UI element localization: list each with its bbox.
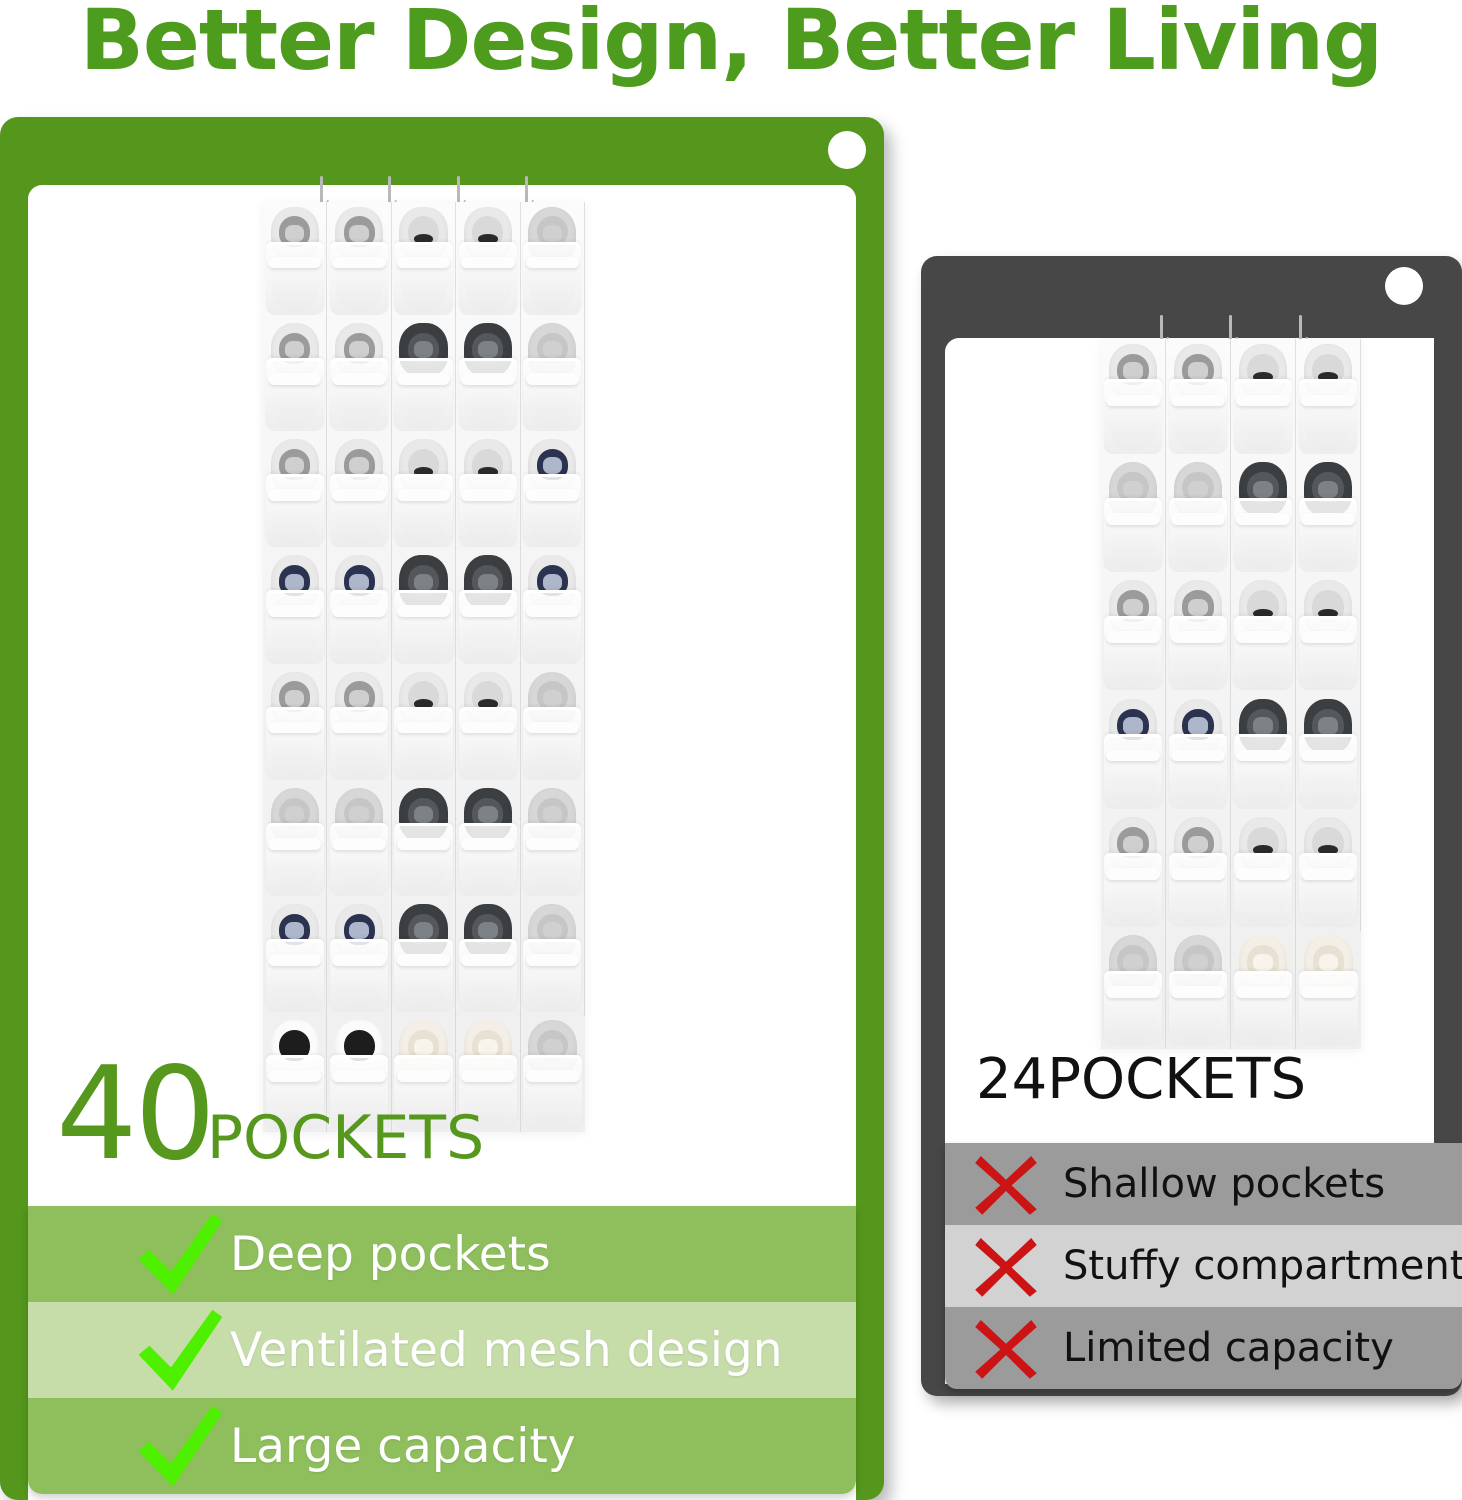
check-icon [132, 1404, 228, 1494]
pocket-strap [1171, 395, 1225, 407]
pocket-front [1169, 971, 1228, 1046]
pocket-front [1104, 734, 1163, 809]
pocket-front [459, 474, 517, 547]
pocket-front [394, 823, 452, 896]
pocket-strap [397, 257, 450, 269]
organizer-pocket [456, 435, 520, 551]
pocket-front [1299, 853, 1358, 928]
pocket-front [1104, 971, 1163, 1046]
organizer-pocket [1231, 694, 1296, 812]
organizer-pocket [1231, 812, 1296, 930]
organizer-pocket [456, 551, 520, 667]
pocket-strap [268, 605, 321, 617]
organizer-pocket [1296, 812, 1361, 930]
pocket-count-24: 24POCKETS [976, 1047, 1306, 1112]
pocket-strap [461, 722, 514, 734]
pocket-strap [332, 954, 385, 966]
pocket-strap [526, 605, 579, 617]
pocket-front [523, 358, 581, 431]
pocket-strap [397, 954, 450, 966]
infographic-canvas: Better Design, Better Living 24POCKETS S… [0, 0, 1462, 1500]
pocket-strap [461, 605, 514, 617]
pocket-front [1104, 379, 1163, 454]
pocket-strap [397, 838, 450, 850]
organizer-pocket [521, 783, 585, 899]
organizer-pocket [456, 783, 520, 899]
organizer-pocket [456, 667, 520, 783]
organizer-pocket [1166, 694, 1231, 812]
organizer-pocket [1101, 694, 1166, 812]
pocket-front [1169, 853, 1228, 928]
organizer-pocket [1166, 931, 1231, 1049]
pocket-strap [268, 954, 321, 966]
pros-label: Large capacity [230, 1419, 576, 1474]
cons-row: Limited capacity [945, 1307, 1462, 1389]
organizer-pocket [1231, 339, 1296, 457]
cons-label: Limited capacity [1063, 1325, 1394, 1371]
pocket-strap [268, 373, 321, 385]
organizer-pocket [1166, 812, 1231, 930]
pocket-front [330, 358, 388, 431]
pocket-strap [526, 489, 579, 501]
pocket-front [1104, 616, 1163, 691]
shoe-organizer-24 [1101, 339, 1361, 1049]
pocket-strap [526, 257, 579, 269]
pros-list: Deep pockets Ventilated mesh design Larg… [28, 1206, 856, 1494]
organizer-pocket [327, 667, 391, 783]
pocket-strap [461, 257, 514, 269]
pocket-strap [1171, 631, 1225, 643]
organizer-pocket [1231, 931, 1296, 1049]
organizer-pocket [327, 783, 391, 899]
pocket-front [1234, 734, 1293, 809]
pocket-front [394, 590, 452, 663]
pocket-front [266, 707, 324, 780]
pros-row: Ventilated mesh design [28, 1302, 856, 1398]
check-icon [132, 1308, 228, 1398]
pocket-strap [268, 489, 321, 501]
pocket-strap [397, 605, 450, 617]
pocket-front [523, 242, 581, 315]
pocket-strap [397, 489, 450, 501]
organizer-pocket [327, 202, 391, 318]
organizer-pocket [456, 900, 520, 1016]
pocket-front [459, 939, 517, 1012]
organizer-pocket [392, 900, 456, 1016]
pocket-front [1169, 379, 1228, 454]
pocket-front [1169, 498, 1228, 573]
pocket-front [394, 242, 452, 315]
organizer-pocket [263, 783, 327, 899]
pocket-strap [1106, 750, 1160, 762]
pocket-count-40: 40POCKETS [56, 1040, 484, 1189]
hanging-hole-dark-icon [1385, 267, 1423, 305]
organizer-pocket [263, 551, 327, 667]
pocket-strap [1106, 631, 1160, 643]
organizer-pocket-grid-40 [263, 202, 585, 1132]
organizer-pocket [327, 435, 391, 551]
pocket-strap [526, 1070, 580, 1082]
cons-row: Stuffy compartments [945, 1225, 1462, 1307]
pocket-front [523, 1055, 582, 1128]
pocket-strap [1171, 750, 1225, 762]
organizer-pocket-grid-24 [1101, 339, 1361, 1049]
pros-label: Ventilated mesh design [230, 1323, 783, 1378]
organizer-pocket [521, 318, 585, 434]
pocket-front [394, 707, 452, 780]
pocket-strap [526, 954, 579, 966]
pocket-strap [332, 838, 385, 850]
organizer-hooks-40 [263, 176, 585, 204]
organizer-pocket [392, 667, 456, 783]
organizer-pocket [521, 551, 585, 667]
pocket-strap [332, 605, 385, 617]
organizer-pocket [263, 202, 327, 318]
organizer-pocket [263, 318, 327, 434]
pocket-front [266, 474, 324, 547]
organizer-pocket [327, 900, 391, 1016]
organizer-pocket [392, 318, 456, 434]
pocket-strap [526, 838, 579, 850]
organizer-pocket [1231, 576, 1296, 694]
pocket-front [1299, 734, 1358, 809]
pocket-front [394, 474, 452, 547]
pocket-count-word: POCKETS [207, 1103, 484, 1173]
pocket-front [523, 939, 581, 1012]
pocket-front [330, 242, 388, 315]
pocket-strap [461, 954, 514, 966]
pocket-front [523, 823, 581, 896]
organizer-pocket [1296, 576, 1361, 694]
pocket-strap [1301, 395, 1355, 407]
x-icon [967, 1149, 1045, 1219]
organizer-pocket [1231, 457, 1296, 575]
pocket-strap [461, 489, 514, 501]
organizer-pocket [1166, 339, 1231, 457]
pocket-strap [1106, 395, 1160, 407]
pocket-front [330, 590, 388, 663]
pocket-strap [1236, 868, 1290, 880]
pocket-front [1234, 498, 1293, 573]
cons-list: Shallow pockets Stuffy compartments Limi… [945, 1143, 1462, 1389]
pocket-front [266, 823, 324, 896]
organizer-pocket [521, 435, 585, 551]
organizer-pocket [1166, 457, 1231, 575]
pocket-front [266, 590, 324, 663]
pocket-strap [1301, 868, 1355, 880]
pocket-strap [1301, 750, 1355, 762]
cons-row: Shallow pockets [945, 1143, 1462, 1225]
pocket-strap [1106, 513, 1160, 525]
pocket-front [523, 474, 581, 547]
organizer-pocket [1296, 694, 1361, 812]
shoe-organizer-40 [263, 202, 585, 1132]
pocket-front [1234, 971, 1293, 1046]
organizer-pocket [327, 318, 391, 434]
pros-label: Deep pockets [230, 1227, 551, 1282]
pocket-strap [1236, 986, 1290, 998]
pocket-strap [397, 373, 450, 385]
check-icon [132, 1212, 228, 1302]
organizer-pocket [1296, 457, 1361, 575]
organizer-pocket [1101, 576, 1166, 694]
pocket-front [523, 590, 581, 663]
organizer-pocket [263, 667, 327, 783]
pocket-front [1299, 616, 1358, 691]
pros-row: Large capacity [28, 1398, 856, 1494]
pocket-strap [1301, 513, 1355, 525]
pocket-front [330, 823, 388, 896]
pocket-strap [1171, 513, 1225, 525]
pocket-strap [268, 257, 321, 269]
pocket-strap [1236, 513, 1290, 525]
organizer-pocket [392, 551, 456, 667]
pocket-strap [332, 257, 385, 269]
page-title: Better Design, Better Living [0, 0, 1462, 86]
pocket-front [330, 707, 388, 780]
pocket-strap [461, 838, 514, 850]
pocket-strap [1236, 631, 1290, 643]
organizer-pocket [521, 900, 585, 1016]
pocket-front [1104, 853, 1163, 928]
organizer-pocket [1101, 339, 1166, 457]
pocket-front [1234, 853, 1293, 928]
pros-row: Deep pockets [28, 1206, 856, 1302]
organizer-pocket [392, 202, 456, 318]
organizer-pocket [521, 667, 585, 783]
pocket-front [330, 474, 388, 547]
pocket-front [1169, 734, 1228, 809]
pocket-front [1104, 498, 1163, 573]
organizer-pocket [392, 783, 456, 899]
organizer-pocket [456, 318, 520, 434]
pocket-front [1234, 616, 1293, 691]
pocket-front [459, 242, 517, 315]
pocket-front [523, 707, 581, 780]
pocket-front [1234, 379, 1293, 454]
pocket-strap [526, 722, 579, 734]
hanging-hole-green-icon [828, 131, 866, 169]
pocket-strap [1106, 986, 1160, 998]
pocket-front [1169, 616, 1228, 691]
pocket-front [459, 590, 517, 663]
pocket-strap [1301, 631, 1355, 643]
organizer-pocket [1166, 576, 1231, 694]
organizer-pocket [1101, 931, 1166, 1049]
pocket-strap [332, 373, 385, 385]
organizer-pocket [1101, 457, 1166, 575]
organizer-hooks-24 [1101, 315, 1361, 341]
pocket-front [459, 707, 517, 780]
pocket-front [394, 358, 452, 431]
pocket-strap [268, 838, 321, 850]
pocket-front [266, 939, 324, 1012]
pocket-count-number: 40 [56, 1040, 213, 1189]
organizer-pocket [263, 900, 327, 1016]
organizer-pocket [1101, 812, 1166, 930]
pocket-front [1299, 379, 1358, 454]
pocket-front [394, 939, 452, 1012]
pocket-strap [1106, 868, 1160, 880]
pocket-strap [332, 489, 385, 501]
organizer-pocket [456, 202, 520, 318]
cons-label: Stuffy compartments [1063, 1243, 1462, 1289]
x-icon [967, 1231, 1045, 1301]
organizer-pocket [1296, 931, 1361, 1049]
x-icon [967, 1313, 1045, 1383]
pocket-strap [526, 373, 579, 385]
pocket-front [330, 939, 388, 1012]
pocket-front [266, 242, 324, 315]
pocket-strap [1171, 986, 1225, 998]
pocket-front [266, 358, 324, 431]
pocket-strap [332, 722, 385, 734]
pocket-strap [1236, 395, 1290, 407]
pocket-front [1299, 498, 1358, 573]
organizer-pocket [1296, 339, 1361, 457]
pocket-strap [1301, 986, 1356, 998]
pocket-strap [397, 722, 450, 734]
organizer-pocket [327, 551, 391, 667]
organizer-pocket [263, 435, 327, 551]
organizer-pocket [521, 1016, 585, 1132]
cons-label: Shallow pockets [1063, 1161, 1385, 1207]
pocket-strap [1171, 868, 1225, 880]
organizer-pocket [521, 202, 585, 318]
pocket-strap [268, 722, 321, 734]
pocket-strap [1236, 750, 1290, 762]
pocket-front [459, 358, 517, 431]
pocket-front [459, 823, 517, 896]
pocket-front [1299, 971, 1359, 1046]
organizer-pocket [392, 435, 456, 551]
pocket-strap [461, 373, 514, 385]
